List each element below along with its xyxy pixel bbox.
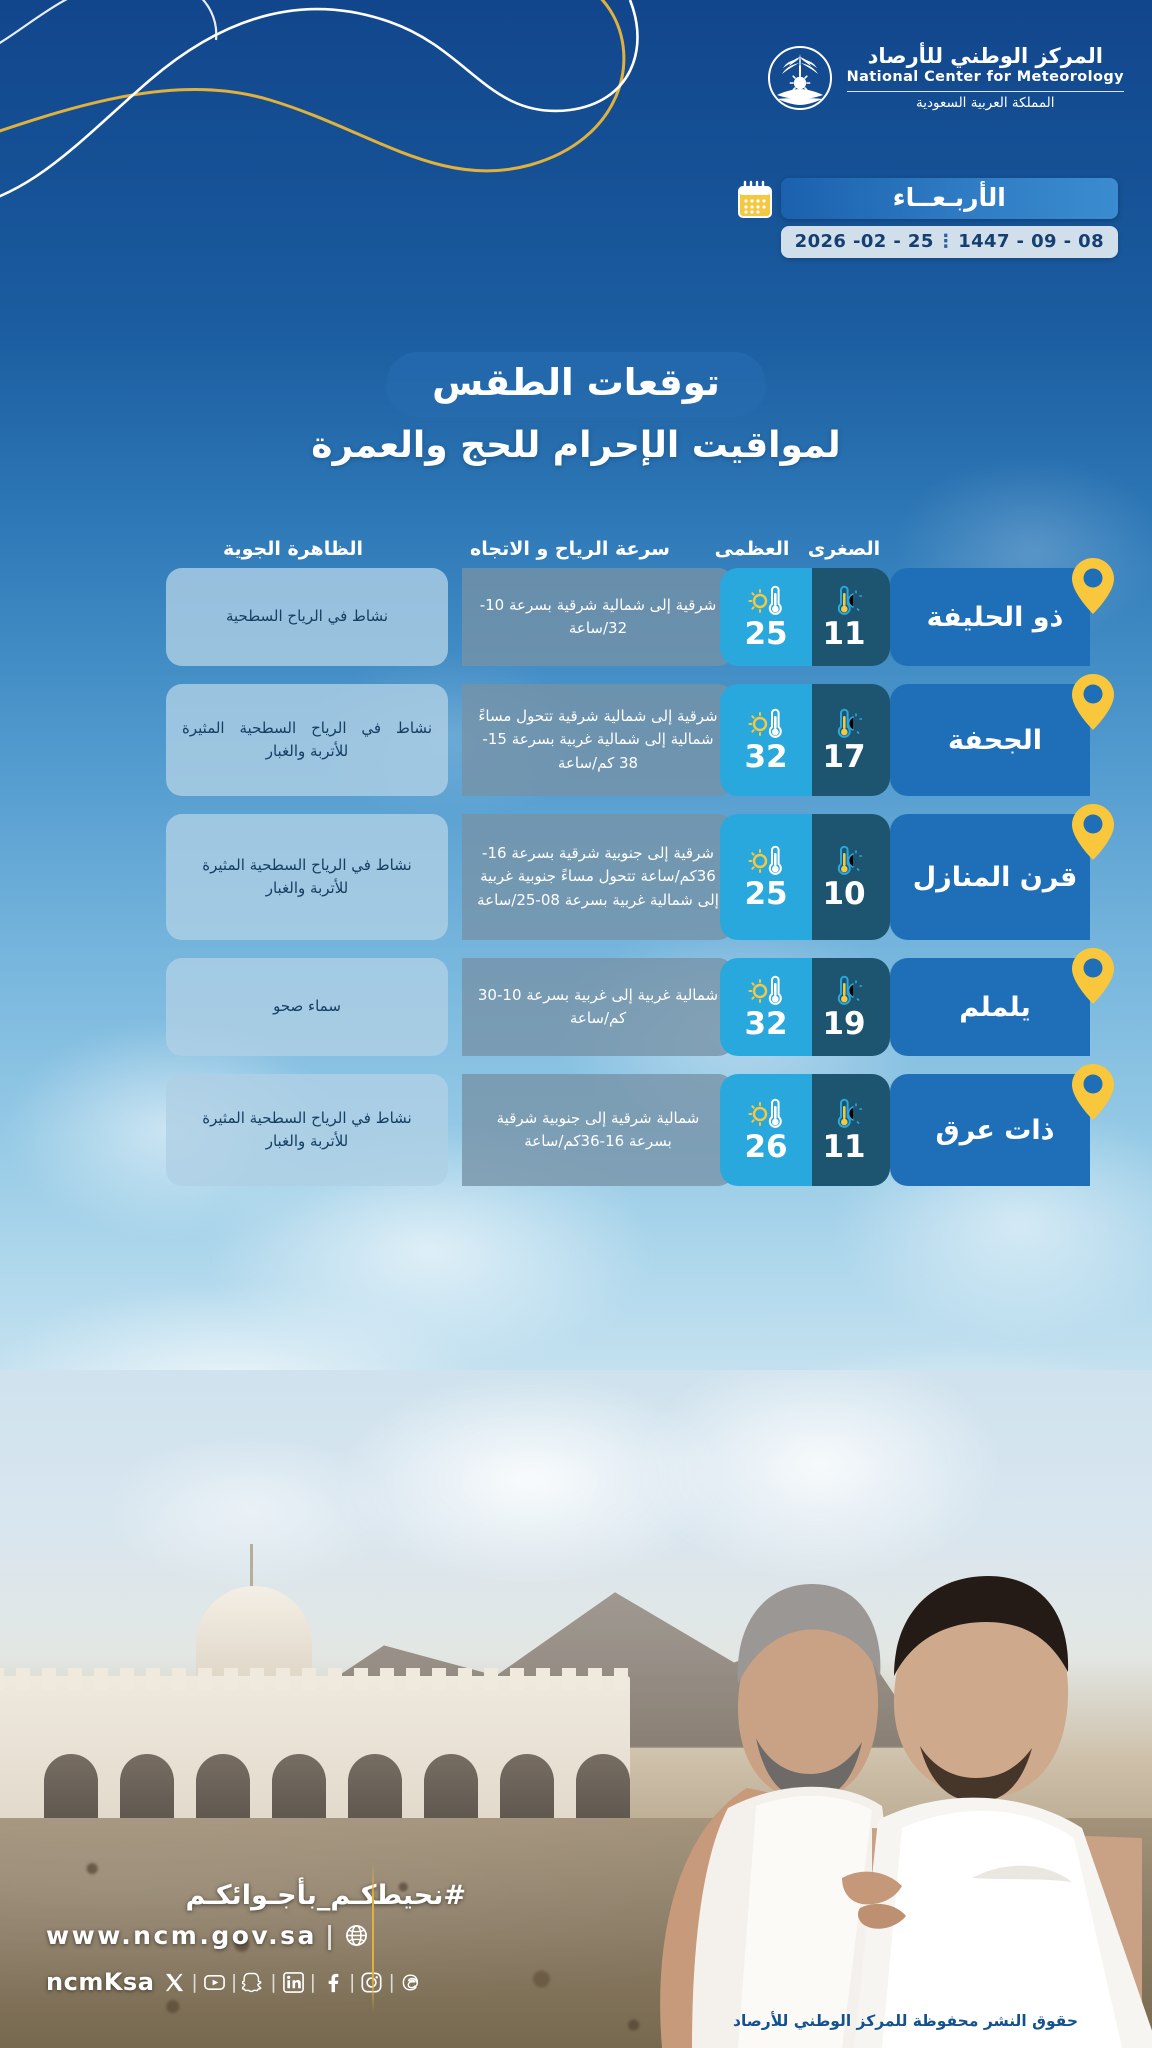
icon-separator: | <box>349 1971 355 1993</box>
table-row: قرن المنازل 10 <box>80 814 1090 940</box>
campaign-hashtag: #نحيطكـم_بأجـوائكـم <box>46 1880 466 1911</box>
logo-text-block: المركز الوطني للأرصاد National Center fo… <box>847 44 1124 112</box>
globe-icon <box>345 1924 368 1947</box>
row-wind-cell: شرقية إلى شمالية شرقية بسرعة 10-32/ساعة <box>462 568 734 666</box>
min-temp-value: 11 <box>822 620 865 655</box>
row-max-temp-cell: 25 <box>720 814 812 940</box>
table-row: ذو الحليفة 11 <box>80 568 1090 666</box>
icon-separator: | <box>231 1971 237 1993</box>
sun-thermometer-icon <box>746 707 786 741</box>
location-name: الجحفة <box>948 725 1042 756</box>
sun-thermometer-icon <box>746 844 786 878</box>
social-handle: ncmKsa <box>46 1968 154 1996</box>
header-phenomenon: الظاهرة الجوية <box>152 538 434 560</box>
date-badge: الأربـعــاء 2026 -02 - 25⋮1447 - 09 - 08 <box>737 178 1118 258</box>
row-max-temp-cell: 26 <box>720 1074 812 1186</box>
row-wind-cell: شمالية شرقية إلى جنوبية شرقية بسرعة 16-3… <box>462 1074 734 1186</box>
sun-thermometer-icon <box>746 974 786 1008</box>
snowflake-thermometer-icon <box>824 1097 864 1131</box>
row-wind-cell: شرقية إلى شمالية شرقية تتحول مساءً شمالي… <box>462 684 734 796</box>
forecast-table: الصغرى العظمى سرعة الرياح و الاتجاه الظا… <box>80 538 1090 1204</box>
row-location-cell[interactable]: الجحفة <box>890 684 1090 796</box>
row-max-temp-cell: 32 <box>720 958 812 1056</box>
two-pilgrims-in-ihram <box>542 1408 1152 2048</box>
social-icons-group: | | | | <box>163 1971 422 1994</box>
row-phenomenon-cell: نشاط في الرياح السطحية المثيرة للأتربة و… <box>166 814 448 940</box>
logo-country: المملكة العربية السعودية <box>847 95 1124 113</box>
max-temp-value: 26 <box>744 1133 787 1168</box>
sun-thermometer-icon <box>746 1097 786 1131</box>
location-pin-icon <box>1070 556 1116 616</box>
snowflake-thermometer-icon <box>824 974 864 1008</box>
header-wind: سرعة الرياح و الاتجاه <box>434 538 706 560</box>
day-name-badge: الأربـعــاء <box>781 178 1118 219</box>
icon-separator: | <box>310 1971 316 1993</box>
hijri-date: 1447 - 09 - 08 <box>958 231 1104 252</box>
x-icon[interactable] <box>163 1971 186 1994</box>
min-temp-value: 17 <box>822 743 865 778</box>
max-temp-value: 32 <box>744 743 787 778</box>
row-location-cell[interactable]: ذات عرق <box>890 1074 1090 1186</box>
sun-thermometer-icon <box>746 584 786 618</box>
row-wind-cell: شمالية غربية إلى غربية بسرعة 10-30 كم/سا… <box>462 958 734 1056</box>
decorative-swirl-lines <box>0 0 670 220</box>
copyright-text: حقوق النشر محفوظة للمركز الوطني للأرصاد <box>733 2012 1078 2030</box>
page-subtitle: لمواقيت الإحرام للحج والعمرة <box>0 425 1152 466</box>
table-header-row: الصغرى العظمى سرعة الرياح و الاتجاه الظا… <box>80 538 1090 568</box>
location-pin-icon <box>1070 672 1116 732</box>
date-separator: ⋮ <box>934 231 958 252</box>
location-pin-icon <box>1070 1062 1116 1122</box>
footer-block: #نحيطكـم_بأجـوائكـم www.ncm.gov.sa | ncm… <box>46 1880 466 1996</box>
pilgrim-right <box>854 1576 1152 2048</box>
calendar-icon <box>737 180 773 220</box>
weather-forecast-poster: المركز الوطني للأرصاد National Center fo… <box>0 0 1152 2048</box>
footer-gold-divider <box>372 1862 374 2012</box>
snapchat-icon[interactable] <box>242 1971 265 1994</box>
location-name: يلملم <box>959 992 1030 1023</box>
min-temp-value: 10 <box>822 880 865 915</box>
threads-icon[interactable] <box>400 1971 423 1994</box>
mosque-parapet <box>0 1668 630 1690</box>
youtube-icon[interactable] <box>203 1971 226 1994</box>
date-values-badge: 2026 -02 - 25⋮1447 - 09 - 08 <box>781 226 1118 258</box>
row-wind-cell: شرقية إلى جنوبية شرقية بسرعة 16-36كم/ساع… <box>462 814 734 940</box>
gregorian-date: 2026 -02 - 25 <box>795 231 934 252</box>
saudi-emblem-sun-cloud-icon <box>767 45 833 111</box>
row-max-temp-cell: 32 <box>720 684 812 796</box>
poster-title-block: توقعات الطقس لمواقيت الإحرام للحج والعمر… <box>0 352 1152 466</box>
logo-name-arabic: المركز الوطني للأرصاد <box>847 44 1124 68</box>
icon-separator: | <box>270 1971 276 1993</box>
facebook-icon[interactable] <box>321 1971 344 1994</box>
max-temp-value: 25 <box>744 620 787 655</box>
social-handle-line: ncmKsa | | | <box>46 1968 466 1996</box>
row-phenomenon-cell: نشاط في الرياح السطحية المثيرة للأتربة و… <box>166 684 448 796</box>
location-name: ذات عرق <box>935 1115 1054 1146</box>
min-temp-value: 19 <box>822 1010 865 1045</box>
table-row: الجحفة 17 <box>80 684 1090 796</box>
row-phenomenon-cell: نشاط في الرياح السطحية المثيرة للأتربة و… <box>166 1074 448 1186</box>
logo-name-english: National Center for Meteorology <box>847 68 1124 88</box>
table-row: يلملم 19 <box>80 958 1090 1056</box>
location-pin-icon <box>1070 946 1116 1006</box>
icon-separator: | <box>388 1971 394 1993</box>
row-phenomenon-cell: سماء صحو <box>166 958 448 1056</box>
location-name: ذو الحليفة <box>927 602 1064 633</box>
location-pin-icon <box>1070 802 1116 862</box>
max-temp-value: 25 <box>744 880 787 915</box>
header-max-temp: العظمى <box>706 538 798 560</box>
logo-divider <box>847 91 1124 92</box>
icon-separator: | <box>191 1971 197 1993</box>
location-name: قرن المنازل <box>913 862 1078 893</box>
snowflake-thermometer-icon <box>824 584 864 618</box>
date-badge-column: الأربـعــاء 2026 -02 - 25⋮1447 - 09 - 08 <box>781 178 1118 258</box>
header-min-temp: الصغرى <box>798 538 890 560</box>
table-row: ذات عرق 11 <box>80 1074 1090 1186</box>
page-title: توقعات الطقس <box>386 352 766 417</box>
website-url: www.ncm.gov.sa <box>46 1921 317 1950</box>
mosque-spire <box>250 1544 253 1590</box>
min-temp-value: 11 <box>822 1133 865 1168</box>
ncm-logo: المركز الوطني للأرصاد National Center fo… <box>767 44 1124 112</box>
max-temp-value: 32 <box>744 1010 787 1045</box>
row-max-temp-cell: 25 <box>720 568 812 666</box>
snowflake-thermometer-icon <box>824 707 864 741</box>
row-location-cell[interactable]: قرن المنازل <box>890 814 1090 940</box>
website-line[interactable]: www.ncm.gov.sa | <box>46 1921 466 1950</box>
row-phenomenon-cell: نشاط في الرياح السطحية <box>166 568 448 666</box>
row-location-cell[interactable]: يلملم <box>890 958 1090 1056</box>
row-location-cell[interactable]: ذو الحليفة <box>890 568 1090 666</box>
snowflake-thermometer-icon <box>824 844 864 878</box>
linkedin-icon[interactable] <box>282 1971 305 1994</box>
